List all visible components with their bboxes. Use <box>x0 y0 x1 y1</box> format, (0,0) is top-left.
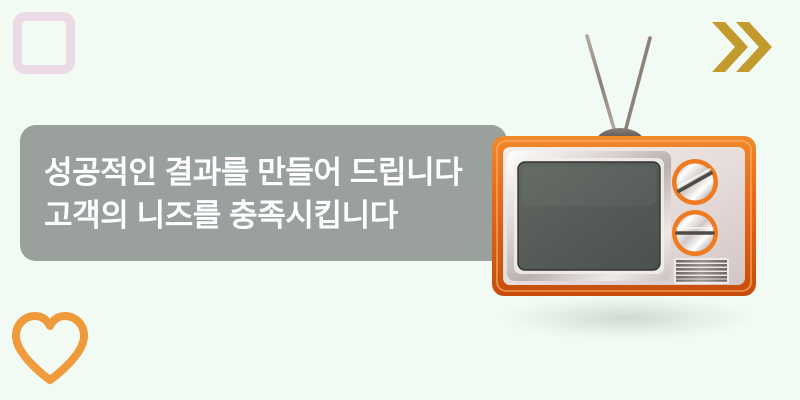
retro-tv-illustration <box>486 24 766 344</box>
tv-knob-upper <box>672 159 718 205</box>
tv-antenna <box>587 36 650 132</box>
headline: 성공적인 결과를 만들어 드립니다 고객의 니즈를 충족시킵니다 <box>44 151 504 237</box>
tv-screen-glare <box>522 166 656 206</box>
rounded-square-outline-icon <box>13 12 75 74</box>
headline-line-1: 성공적인 결과를 만들어 드립니다 <box>44 151 504 194</box>
headline-line-2: 고객의 니즈를 충족시킵니다 <box>44 194 504 237</box>
tv-knob-lower <box>672 210 718 256</box>
tv-graphic <box>486 24 766 344</box>
tv-speaker-grille <box>674 258 729 284</box>
promo-banner: 성공적인 결과를 만들어 드립니다 고객의 니즈를 충족시킵니다 <box>0 0 800 400</box>
heart-outline-icon <box>4 306 96 390</box>
